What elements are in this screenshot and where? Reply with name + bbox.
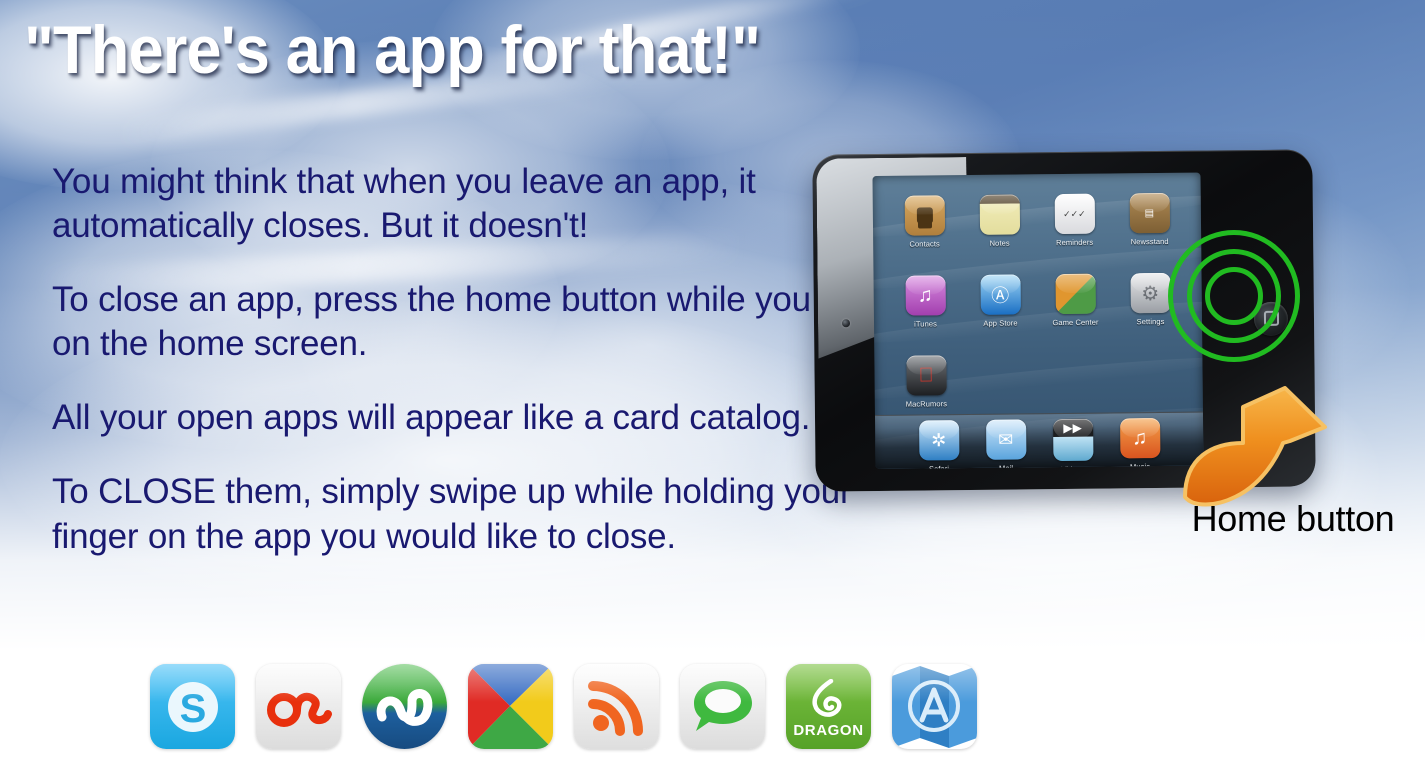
itunes-icon: ♫ — [905, 275, 945, 315]
settings-icon: ⚙ — [1130, 273, 1170, 313]
app-label: Contacts — [909, 239, 939, 248]
dock-icon-videos[interactable]: ▶▶ Videos — [1053, 419, 1094, 469]
app-icon-notes[interactable]: Notes — [962, 188, 1038, 269]
macrumors-icon:  — [906, 355, 946, 395]
dragon-flame-glyph-icon — [807, 679, 851, 719]
app-label: iTunes — [914, 319, 937, 328]
app-label: MacRumors — [906, 399, 947, 408]
callout-arrow — [1165, 385, 1345, 510]
paragraph-3: All your open apps will appear like a ca… — [52, 396, 872, 440]
home-screen-app-grid: Contacts Notes ✓✓✓ Reminders ▤ Newsstand… — [873, 181, 1203, 417]
app-label: Notes — [990, 239, 1010, 248]
svg-text:S: S — [179, 687, 206, 731]
front-camera-icon — [842, 319, 850, 327]
messages-bubble-glyph-icon — [690, 677, 756, 737]
app-icon-itunes[interactable]: ♫ iTunes — [887, 269, 963, 350]
messages-icon[interactable] — [680, 664, 765, 749]
stumbleupon-icon[interactable] — [362, 664, 447, 749]
contacts-icon — [904, 195, 944, 235]
app-icon-app-store[interactable]: Ⓐ App Store — [962, 268, 1038, 349]
home-button-label: Home button — [1163, 498, 1423, 540]
body-copy: You might think that when you leave an a… — [52, 160, 872, 559]
paragraph-4: To CLOSE them, simply swipe up while hol… — [52, 470, 872, 558]
app-store-maps-icon[interactable] — [892, 664, 977, 749]
pinwheel-icon[interactable] — [468, 664, 553, 749]
skype-glyph-icon: S — [162, 676, 224, 738]
app-icon-reminders[interactable]: ✓✓✓ Reminders — [1037, 187, 1113, 268]
app-label: Reminders — [1056, 238, 1093, 247]
slide-canvas: "There's an app for that!" You might thi… — [0, 0, 1425, 757]
safari-icon: ✲ — [919, 420, 959, 460]
app-store-icon: Ⓐ — [980, 274, 1020, 314]
lastfm-icon[interactable] — [256, 664, 341, 749]
newsstand-icon: ▤ — [1129, 193, 1169, 233]
dock-icon-music[interactable]: ♫ Music — [1120, 418, 1161, 469]
skype-icon[interactable]: S — [150, 664, 235, 749]
home-button-glyph — [1263, 311, 1278, 326]
rss-glyph-icon — [588, 678, 646, 736]
ipad-dock: ✲ Safari ✉ Mail ▶▶ Videos ♫ Music — [875, 412, 1204, 469]
paragraph-2: To close an app, press the home button w… — [52, 278, 872, 366]
lastfm-glyph-icon — [264, 684, 334, 730]
pinwheel-glyph-icon — [468, 664, 553, 749]
notes-icon — [979, 194, 1019, 234]
dock-icon-safari[interactable]: ✲ Safari — [919, 420, 960, 469]
stumbleupon-glyph-icon — [372, 683, 438, 731]
reminders-icon: ✓✓✓ — [1054, 194, 1094, 234]
app-label: Newsstand — [1131, 237, 1169, 246]
rss-icon[interactable] — [574, 664, 659, 749]
app-icon-game-center[interactable]: Game Center — [1037, 267, 1113, 348]
slide-title: "There's an app for that!" — [24, 16, 760, 84]
ipad-screen: Contacts Notes ✓✓✓ Reminders ▤ Newsstand… — [872, 173, 1203, 469]
music-icon: ♫ — [1120, 418, 1160, 458]
dock-icon-mail[interactable]: ✉ Mail — [986, 419, 1027, 469]
app-label: App Store — [983, 318, 1017, 327]
app-icon-newsstand[interactable]: ▤ Newsstand — [1112, 187, 1188, 268]
app-label: Settings — [1137, 317, 1165, 326]
paragraph-1: You might think that when you leave an a… — [52, 160, 872, 248]
mail-icon: ✉ — [986, 419, 1026, 459]
home-button[interactable] — [1254, 301, 1288, 335]
dragon-icon[interactable]: DRAGON — [786, 664, 871, 749]
videos-icon: ▶▶ — [1053, 419, 1093, 461]
folded-map-glyph-icon — [892, 664, 977, 749]
game-center-icon — [1055, 274, 1095, 314]
orange-curved-up-arrow-icon — [1165, 385, 1345, 510]
dragon-label: DRAGON — [786, 722, 871, 739]
app-icon-contacts[interactable]: Contacts — [887, 189, 963, 270]
app-icon-settings[interactable]: ⚙ Settings — [1112, 267, 1188, 348]
app-label: Game Center — [1052, 318, 1098, 327]
app-icon-strip: S — [150, 664, 977, 749]
